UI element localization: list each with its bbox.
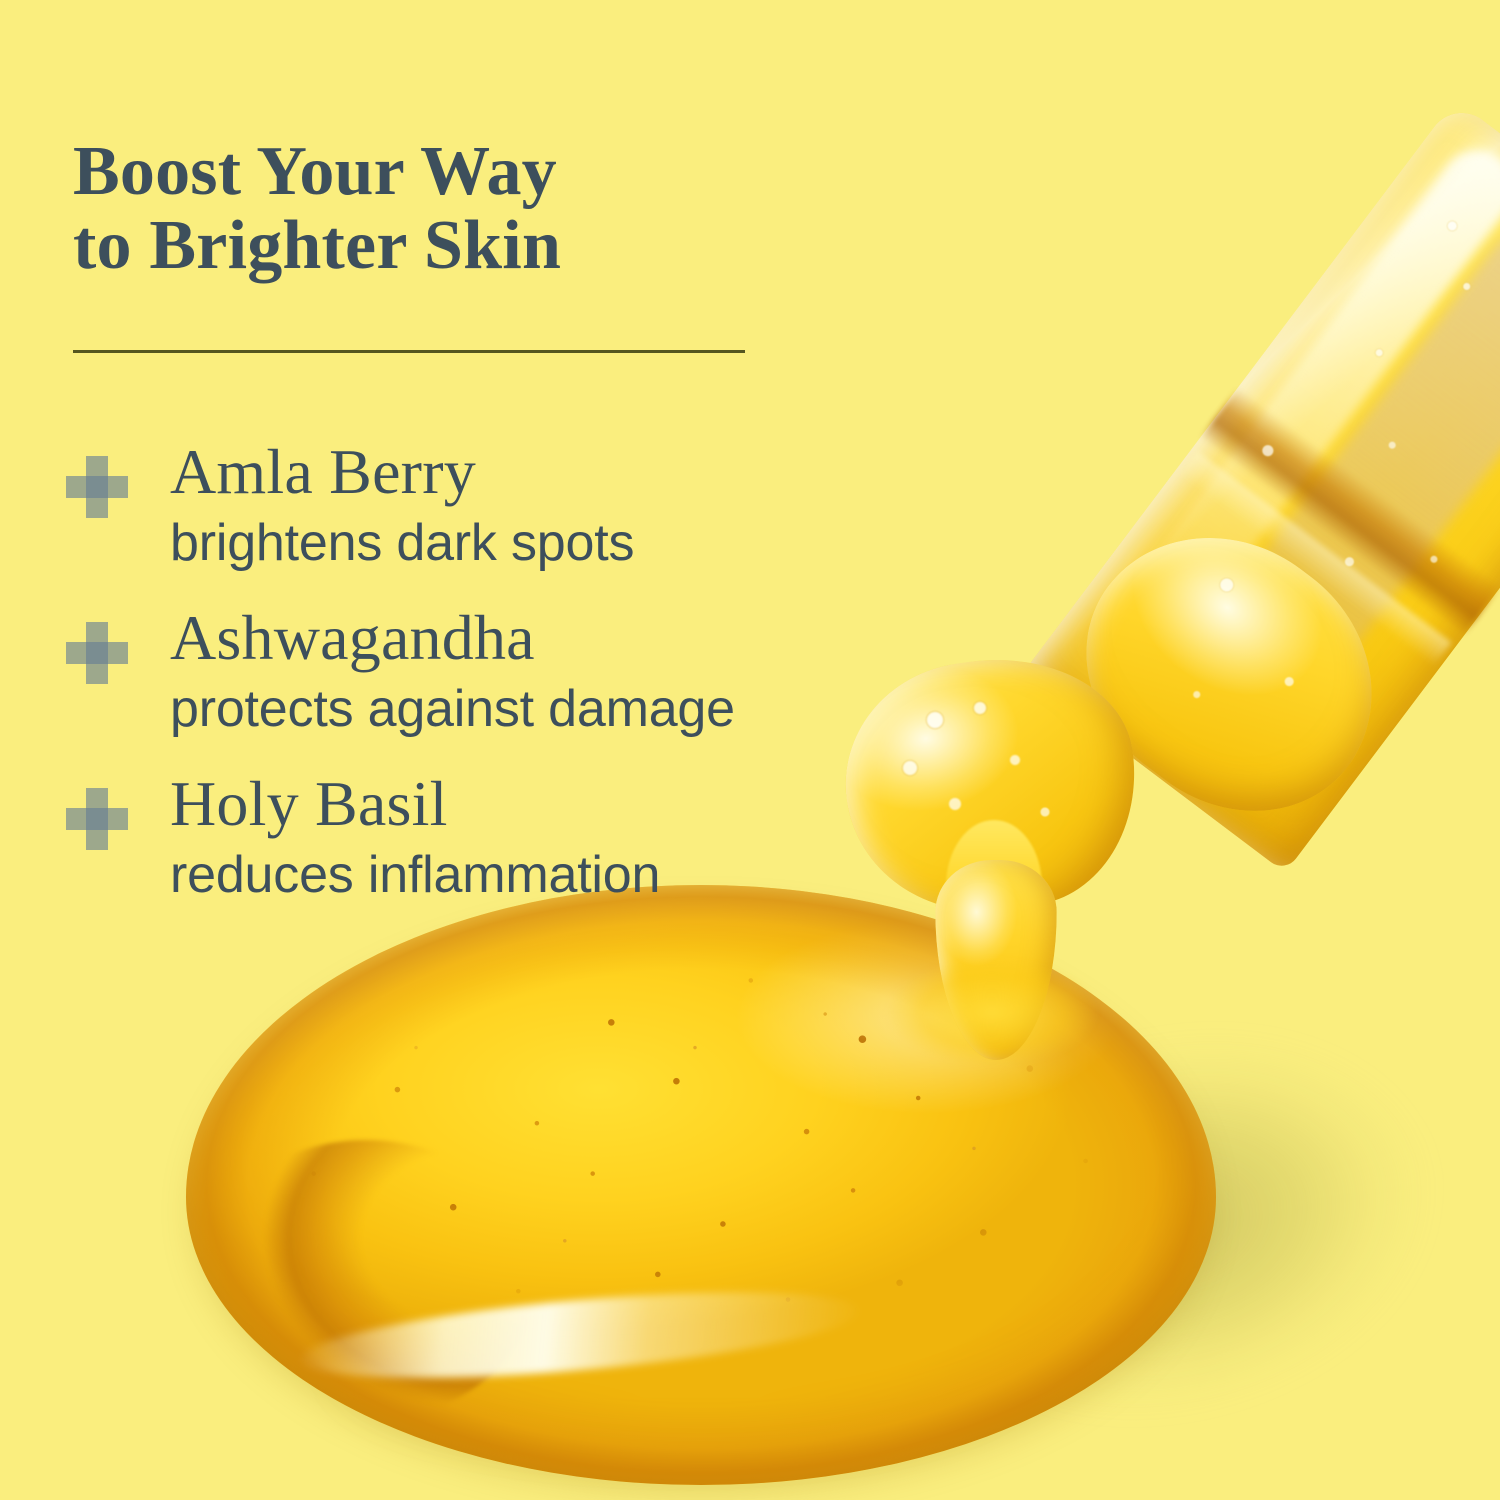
benefit-description: reduces inflammation xyxy=(170,846,660,904)
benefit-title: Amla Berry xyxy=(170,440,634,504)
benefit-description: protects against damage xyxy=(170,680,735,738)
list-item: Ashwagandha protects against damage xyxy=(66,606,986,738)
list-item: Holy Basil reduces inflammation xyxy=(66,772,986,904)
benefit-title: Ashwagandha xyxy=(170,606,735,670)
product-infographic: Boost Your Way to Brighter Skin Amla Ber… xyxy=(0,0,1500,1500)
benefit-title: Holy Basil xyxy=(170,772,660,836)
page-title: Boost Your Way to Brighter Skin xyxy=(73,135,833,283)
benefits-list: Amla Berry brightens dark spots Ashwagan… xyxy=(66,440,986,939)
title-divider xyxy=(73,350,745,353)
list-item: Amla Berry brightens dark spots xyxy=(66,440,986,572)
plus-icon xyxy=(66,456,128,518)
headline-line-2: to Brighter Skin xyxy=(73,209,833,283)
plus-icon xyxy=(66,788,128,850)
benefit-description: brightens dark spots xyxy=(170,514,634,572)
headline-line-1: Boost Your Way xyxy=(73,133,557,210)
plus-icon xyxy=(66,622,128,684)
text-content: Boost Your Way to Brighter Skin Amla Ber… xyxy=(0,0,1500,1500)
